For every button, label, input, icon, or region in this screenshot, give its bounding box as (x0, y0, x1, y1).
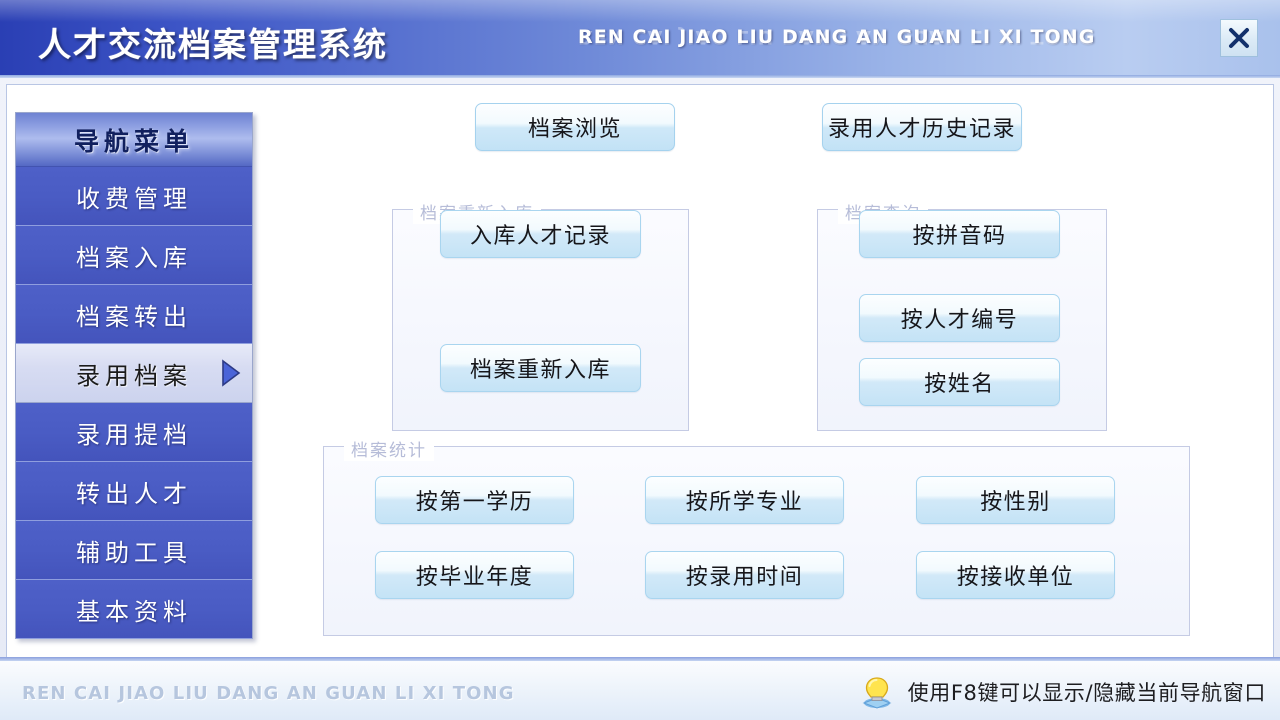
button-label: 按接收单位 (957, 559, 1075, 591)
sidebar-item-archive-intake[interactable]: 档案入库 (16, 226, 252, 285)
stats-by-receiving-unit-button[interactable]: 按接收单位 (916, 551, 1115, 599)
button-label: 录用人才历史记录 (828, 111, 1016, 143)
application-window: 人才交流档案管理系统 REN CAI JIAO LIU DANG AN GUAN… (0, 0, 1280, 720)
sidebar-header: 导航菜单 (16, 113, 252, 167)
button-label: 按人才编号 (901, 302, 1019, 334)
stats-by-hiring-date-button[interactable]: 按录用时间 (645, 551, 844, 599)
window-title-pinyin: REN CAI JIAO LIU DANG AN GUAN LI XI TONG (578, 26, 1096, 48)
close-button[interactable] (1220, 19, 1258, 57)
sidebar-item-charge-management[interactable]: 收费管理 (16, 167, 252, 226)
status-bar-pinyin: REN CAI JIAO LIU DANG AN GUAN LI XI TONG (22, 683, 515, 704)
status-bar: REN CAI JIAO LIU DANG AN GUAN LI XI TONG… (0, 660, 1280, 720)
sidebar-item-label: 辅助工具 (76, 533, 192, 568)
status-bar-tip: 使用F8键可以显示/隐藏当前导航窗口 (858, 673, 1266, 711)
query-by-pinyin-code-button[interactable]: 按拼音码 (859, 210, 1060, 258)
archive-browse-button[interactable]: 档案浏览 (475, 103, 675, 151)
button-label: 档案重新入库 (470, 352, 611, 384)
triangle-right-icon (220, 359, 242, 387)
sidebar-item-auxiliary-tools[interactable]: 辅助工具 (16, 521, 252, 580)
sidebar-item-label: 转出人才 (76, 474, 192, 509)
window-title-chinese: 人才交流档案管理系统 (38, 18, 388, 66)
sidebar-item-label: 录用档案 (76, 356, 192, 391)
button-label: 按姓名 (924, 366, 995, 398)
query-by-name-button[interactable]: 按姓名 (859, 358, 1060, 406)
sidebar-item-archive-transfer-out[interactable]: 档案转出 (16, 285, 252, 344)
sidebar-item-basic-data[interactable]: 基本资料 (16, 580, 252, 639)
stats-by-gender-button[interactable]: 按性别 (916, 476, 1115, 524)
stats-by-graduation-year-button[interactable]: 按毕业年度 (375, 551, 574, 599)
sidebar-header-label: 导航菜单 (74, 122, 194, 158)
button-label: 按毕业年度 (416, 559, 534, 591)
content-area: 导航菜单 收费管理 档案入库 档案转出 录用档案 (0, 78, 1280, 656)
tip-text: 使用F8键可以显示/隐藏当前导航窗口 (908, 677, 1266, 707)
button-label: 入库人才记录 (470, 218, 611, 250)
main-workspace: 档案浏览 录用人才历史记录 档案重新入库 档案重新入库 入库人才记录 (261, 99, 1275, 639)
button-label: 按录用时间 (686, 559, 804, 591)
sidebar-item-label: 录用提档 (76, 415, 192, 450)
sidebar-item-hiring-retrieval[interactable]: 录用提档 (16, 403, 252, 462)
lightbulb-icon (858, 673, 896, 711)
sidebar-item-transfer-out-talent[interactable]: 转出人才 (16, 462, 252, 521)
title-bar: 人才交流档案管理系统 REN CAI JIAO LIU DANG AN GUAN… (0, 0, 1280, 78)
sidebar-item-hiring-archive[interactable]: 录用档案 (16, 344, 252, 403)
sidebar-item-label: 基本资料 (76, 592, 192, 627)
stats-by-first-degree-button[interactable]: 按第一学历 (375, 476, 574, 524)
sidebar-item-label: 收费管理 (76, 179, 192, 214)
button-label: 按性别 (980, 484, 1051, 516)
close-x-icon (1226, 25, 1252, 51)
button-label: 按所学专业 (686, 484, 804, 516)
button-label: 档案浏览 (528, 111, 622, 143)
button-label: 按第一学历 (416, 484, 534, 516)
group-archive-statistics: 档案统计 按第一学历 按所学专业 按性别 按毕业年度 按录用时间 (323, 446, 1190, 636)
button-label: 按拼音码 (912, 218, 1006, 250)
stored-talent-records-button[interactable]: 入库人才记录 (440, 210, 641, 258)
group-archive-query: 档案查询 按人才编号 按姓名 按拼音码 (817, 209, 1107, 431)
group-title: 档案统计 (344, 436, 434, 461)
group-archive-reentry: 档案重新入库 档案重新入库 入库人才记录 (392, 209, 689, 431)
main-panel: 导航菜单 收费管理 档案入库 档案转出 录用档案 (6, 84, 1274, 660)
sidebar-item-label: 档案转出 (76, 297, 192, 332)
navigation-sidebar: 导航菜单 收费管理 档案入库 档案转出 录用档案 (15, 112, 253, 639)
hired-talent-history-button[interactable]: 录用人才历史记录 (822, 103, 1022, 151)
archive-reentry-button[interactable]: 档案重新入库 (440, 344, 641, 392)
query-by-talent-id-button[interactable]: 按人才编号 (859, 294, 1060, 342)
sidebar-item-label: 档案入库 (76, 238, 192, 273)
stats-by-major-button[interactable]: 按所学专业 (645, 476, 844, 524)
